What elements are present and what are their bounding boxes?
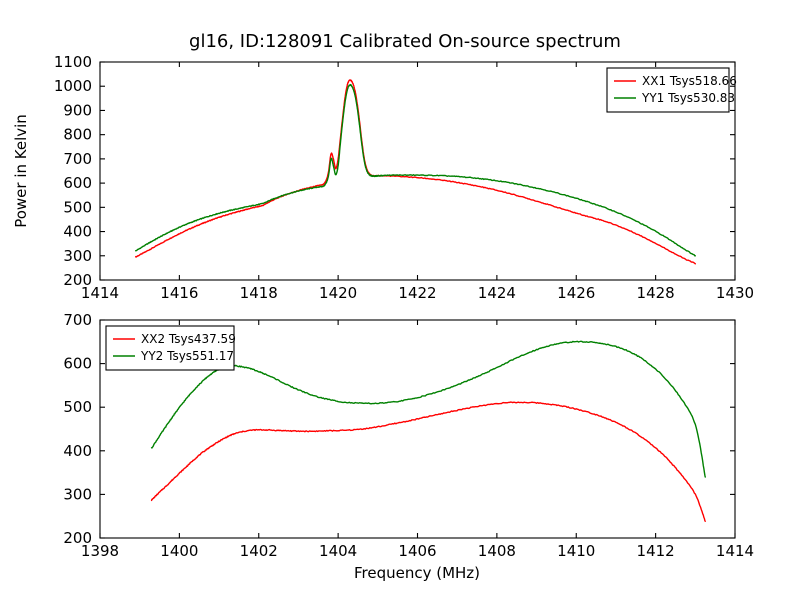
spectrum-plot-svg: gl16, ID:128091 Calibrated On-source spe…: [0, 0, 800, 600]
legend-label: XX2 Tsys437.59: [141, 332, 236, 346]
x-tick-label: 1408: [478, 542, 516, 560]
y-tick-label: 700: [63, 311, 92, 329]
y-tick-label: 300: [63, 247, 92, 265]
x-tick-label: 1404: [319, 542, 357, 560]
top-legend: XX1 Tsys518.66YY1 Tsys530.83: [607, 68, 737, 112]
top-ylabel: Power in Kelvin: [12, 114, 30, 228]
x-tick-label: 1414: [716, 542, 754, 560]
legend-label: XX1 Tsys518.66: [642, 74, 737, 88]
figure-canvas: gl16, ID:128091 Calibrated On-source spe…: [0, 0, 800, 600]
bottom-legend: XX2 Tsys437.59YY2 Tsys551.17: [106, 326, 236, 370]
bottom-panel: 1398140014021404140614081410141214142003…: [63, 311, 754, 582]
x-tick-label: 1426: [557, 284, 595, 302]
page-title: gl16, ID:128091 Calibrated On-source spe…: [189, 31, 621, 52]
y-tick-label: 600: [63, 355, 92, 373]
x-tick-label: 1402: [240, 542, 278, 560]
y-tick-label: 1000: [54, 77, 92, 95]
y-tick-label: 800: [63, 126, 92, 144]
y-tick-label: 200: [63, 271, 92, 289]
x-tick-label: 1412: [637, 542, 675, 560]
y-tick-label: 700: [63, 150, 92, 168]
y-tick-label: 500: [63, 198, 92, 216]
x-tick-label: 1428: [637, 284, 675, 302]
x-tick-label: 1422: [398, 284, 436, 302]
x-tick-label: 1430: [716, 284, 754, 302]
y-tick-label: 900: [63, 101, 92, 119]
x-tick-label: 1410: [557, 542, 595, 560]
legend-label: YY1 Tsys530.83: [641, 91, 735, 105]
x-tick-label: 1420: [319, 284, 357, 302]
legend-label: YY2 Tsys551.17: [140, 349, 234, 363]
x-tick-label: 1400: [160, 542, 198, 560]
y-tick-label: 600: [63, 174, 92, 192]
bottom-xlabel: Frequency (MHz): [354, 564, 480, 582]
y-tick-label: 200: [63, 529, 92, 547]
x-tick-label: 1416: [160, 284, 198, 302]
x-tick-label: 1418: [240, 284, 278, 302]
y-tick-label: 1100: [54, 53, 92, 71]
y-tick-label: 500: [63, 398, 92, 416]
x-tick-label: 1424: [478, 284, 516, 302]
top-panel: 1414141614181420142214241426142814302003…: [12, 53, 754, 302]
y-tick-label: 400: [63, 442, 92, 460]
y-tick-label: 300: [63, 485, 92, 503]
x-tick-label: 1406: [398, 542, 436, 560]
y-tick-label: 400: [63, 223, 92, 241]
